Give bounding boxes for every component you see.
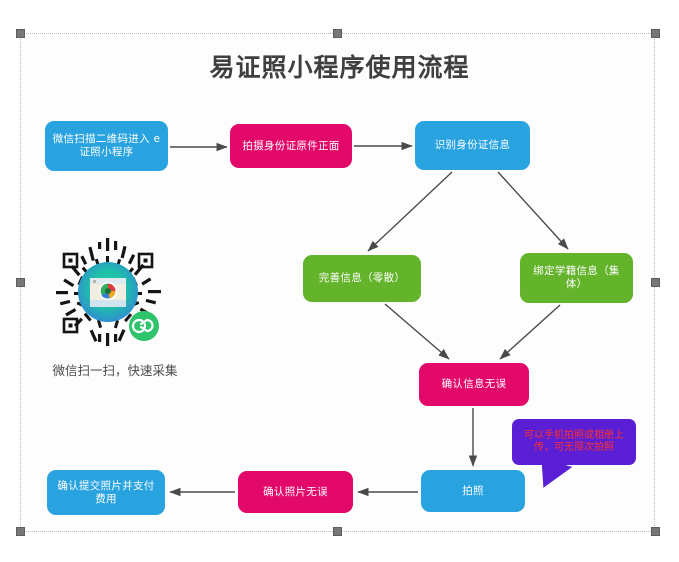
- resize-handle-bottom-left[interactable]: [16, 527, 25, 536]
- qr-code-caption: 微信扫一扫，快速采集: [30, 360, 200, 379]
- node-take-photo[interactable]: 拍照: [421, 470, 525, 512]
- node-shoot-id-card-label: 拍摄身份证原件正面: [242, 140, 339, 153]
- resize-handle-top-left[interactable]: [16, 29, 25, 38]
- callout-photo-tip-text: 可以手机拍照或相册上传，可无限次拍照: [517, 430, 631, 455]
- node-submit-and-pay[interactable]: 确认提交照片并支付费用: [47, 470, 165, 515]
- miniprogram-badge-icon: [129, 311, 159, 341]
- node-scan-qr-label: 微信扫描二维码进入 e证照小程序: [51, 133, 162, 159]
- node-confirm-info[interactable]: 确认信息无误: [419, 363, 529, 406]
- flowchart-canvas: 易证照小程序使用流程: [0, 0, 679, 562]
- node-perfect-info-label: 完善信息（零散）: [319, 272, 405, 285]
- resize-handle-middle-left[interactable]: [16, 278, 25, 287]
- wechat-miniprogram-qr-code-icon: [48, 234, 168, 352]
- page-title: 易证照小程序使用流程: [0, 48, 679, 84]
- node-bind-student-info-label: 绑定学籍信息（集体）: [526, 265, 627, 291]
- resize-handle-top-right[interactable]: [651, 29, 660, 38]
- node-recognize-id-info[interactable]: 识别身份证信息: [415, 121, 530, 170]
- node-bind-student-info[interactable]: 绑定学籍信息（集体）: [520, 253, 633, 303]
- node-recognize-id-info-label: 识别身份证信息: [435, 139, 511, 152]
- node-shoot-id-card[interactable]: 拍摄身份证原件正面: [230, 124, 352, 168]
- qr-code[interactable]: [48, 234, 168, 352]
- node-perfect-info[interactable]: 完善信息（零散）: [303, 255, 421, 302]
- node-confirm-info-label: 确认信息无误: [442, 378, 507, 391]
- resize-handle-top-middle[interactable]: [333, 29, 342, 38]
- callout-photo-tip: 可以手机拍照或相册上传，可无限次拍照: [512, 419, 636, 465]
- node-take-photo-label: 拍照: [462, 485, 484, 498]
- node-scan-qr[interactable]: 微信扫描二维码进入 e证照小程序: [45, 121, 168, 171]
- resize-handle-middle-right[interactable]: [651, 278, 660, 287]
- node-confirm-photo[interactable]: 确认照片无误: [238, 471, 353, 513]
- camera-icon: [90, 278, 126, 307]
- node-submit-and-pay-label: 确认提交照片并支付费用: [53, 480, 159, 506]
- resize-handle-bottom-right[interactable]: [651, 527, 660, 536]
- resize-handle-bottom-middle[interactable]: [333, 527, 342, 536]
- node-confirm-photo-label: 确认照片无误: [263, 486, 328, 499]
